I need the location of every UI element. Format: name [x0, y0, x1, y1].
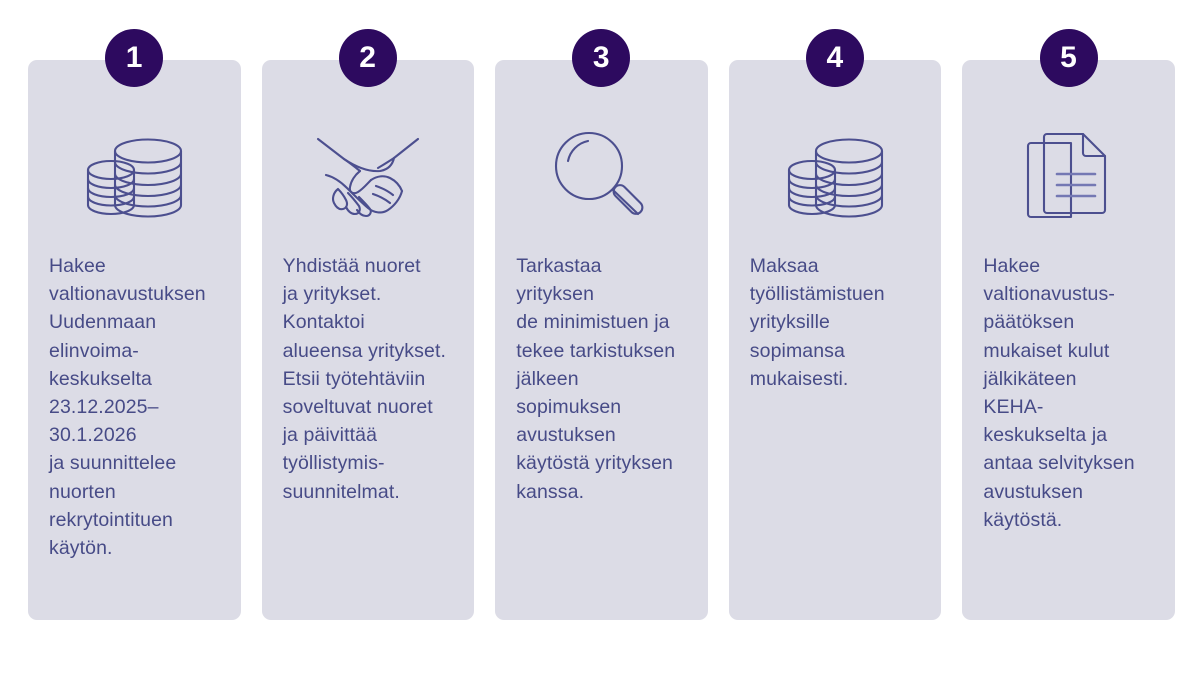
- step-description-5: Hakee valtionavustus- päätöksen mukaiset…: [983, 252, 1163, 534]
- step-card-5: 5 Hakee valtionavustus- päätöksen m: [962, 60, 1175, 620]
- coin-stacks-icon: [28, 122, 241, 232]
- documents-icon: [962, 122, 1175, 232]
- steps-row: 1: [28, 60, 1175, 620]
- step-number-badge-2: 2: [339, 29, 397, 87]
- magnifying-glass-icon: [495, 122, 708, 232]
- step-number-badge-1: 1: [105, 29, 163, 87]
- process-infographic: 1: [0, 0, 1200, 675]
- step-number-badge-4: 4: [806, 29, 864, 87]
- step-card-3: 3 Tarkastaa yrityksen de minimistuen ja …: [495, 60, 708, 620]
- step-card-4: 4: [729, 60, 942, 620]
- coin-stacks-icon: [729, 122, 942, 232]
- step-card-1: 1: [28, 60, 241, 620]
- step-number-badge-3: 3: [572, 29, 630, 87]
- step-card-2: 2: [262, 60, 475, 620]
- step-description-3: Tarkastaa yrityksen de minimistuen ja te…: [516, 252, 696, 506]
- handshake-icon: [262, 122, 475, 232]
- step-description-4: Maksaa työllistämistuen yrityksille sopi…: [750, 252, 930, 393]
- step-number-badge-5: 5: [1040, 29, 1098, 87]
- step-description-1: Hakee valtionavustuksen Uudenmaan elinvo…: [49, 252, 229, 562]
- step-description-2: Yhdistää nuoret ja yritykset. Kontaktoi …: [283, 252, 463, 506]
